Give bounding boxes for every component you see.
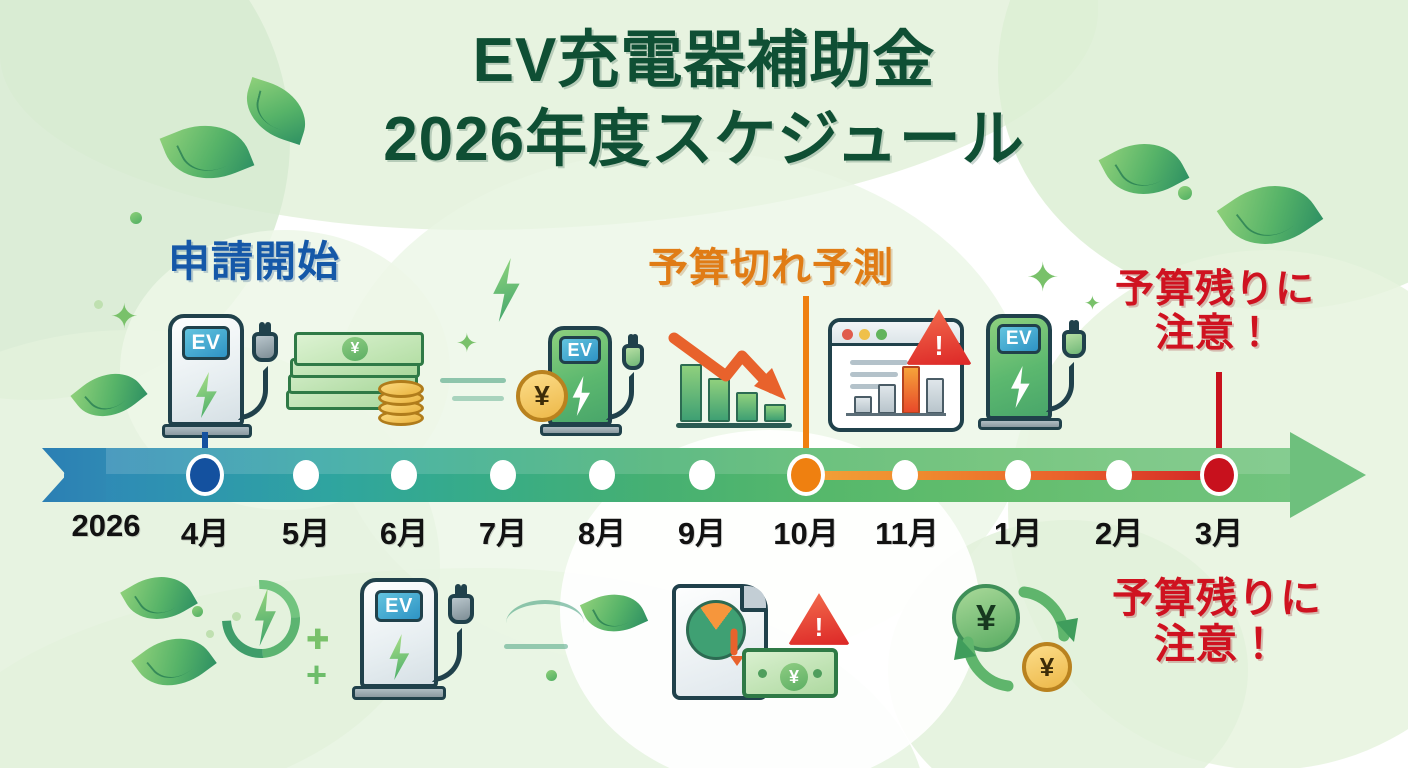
exchange-arrows-icon (952, 580, 1082, 700)
decorative-dot (94, 300, 103, 309)
milestone-label-caution-top: 予算残りに 注意！ (1100, 268, 1330, 355)
swoosh-line (506, 600, 584, 646)
warning-exclamation: ! (788, 612, 850, 643)
cash-stack-yen-icon: ¥ (286, 328, 430, 438)
timeline-tick-2: 2月 (1095, 508, 1143, 553)
decorative-dot (192, 606, 203, 617)
timeline-marker-budget-out[interactable] (787, 454, 825, 496)
timeline-left-notch (42, 448, 106, 502)
leaf-icon (70, 358, 147, 432)
timeline-tick-1: 1月 (994, 508, 1042, 553)
charger-screen-label: EV (997, 324, 1041, 354)
timeline-marker-8[interactable] (589, 460, 615, 490)
yen-exchange-cycle-icon: ¥ ¥ (952, 580, 1082, 700)
timeline-tick-11: 11月 (875, 508, 939, 553)
plus-icon: + (306, 654, 327, 696)
lightning-bolt-icon (486, 258, 526, 322)
ev-charging-station-green-icon: EV (986, 314, 1090, 438)
leaf-icon (580, 582, 648, 643)
warning-triangle-icon: ! (906, 308, 972, 366)
leaf-icon (131, 621, 217, 703)
page-title: EV充電器補助金 2026年度スケジュール (0, 22, 1408, 180)
banknote-yen-icon: ¥ (742, 648, 838, 698)
timeline-marker-caution[interactable] (1200, 454, 1238, 496)
timeline-band (42, 448, 1366, 502)
timeline-tick-6: 6月 (380, 508, 428, 553)
speed-line (452, 396, 504, 401)
timeline-tick-10: 10月 (773, 508, 838, 553)
timeline-arrowhead (1290, 432, 1366, 518)
milestone-label-start: 申請開始 (168, 238, 340, 285)
browser-dot-green (876, 329, 887, 340)
yen-symbol: ¥ (780, 663, 808, 691)
timeline-tick-8: 8月 (578, 508, 626, 553)
timeline-marker-start[interactable] (186, 454, 224, 496)
milestone-label-caution-bottom: 予算残りに 注意！ (1092, 576, 1342, 668)
power-plug-icon (1062, 330, 1086, 358)
timeline-tick-4: 4月 (181, 508, 229, 553)
timeline-marker-7[interactable] (490, 460, 516, 490)
timeline-tick-7: 7月 (479, 508, 527, 553)
yen-symbol: ¥ (342, 337, 368, 361)
decorative-dot (130, 212, 142, 224)
decorative-dot (546, 670, 557, 681)
power-plug-icon (252, 332, 278, 362)
timeline-marker-6[interactable] (391, 460, 417, 490)
sparkle-icon: ✦ (456, 330, 478, 356)
ev-charging-station-white-icon: EV (168, 314, 278, 446)
caution-top-line-2: 注意！ (1100, 312, 1330, 356)
browser-dot-yellow (859, 329, 870, 340)
timeline-tick-5: 5月 (282, 508, 330, 553)
warning-exclamation: ! (906, 330, 972, 362)
decorative-dot (1178, 186, 1192, 200)
power-plug-icon (448, 594, 474, 624)
speed-line (440, 378, 506, 383)
yen-coin-icon: ¥ (516, 370, 568, 422)
speed-line (504, 644, 568, 649)
sparkle-icon: ✦ (1084, 294, 1101, 314)
browser-dot-red (842, 329, 853, 340)
timeline-tick-3: 3月 (1195, 508, 1243, 553)
power-plug-icon (622, 344, 644, 370)
timeline-marker-2[interactable] (1106, 460, 1132, 490)
timeline-tick-9: 9月 (678, 508, 726, 553)
milestone-label-budget-out: 予算切れ予測 (648, 246, 894, 291)
caution-bottom-line-1: 予算残りに (1092, 576, 1342, 622)
sparkle-icon: ✦ (110, 300, 139, 334)
timeline-marker-1[interactable] (1005, 460, 1031, 490)
timeline-tick-year: 2026 (72, 508, 141, 544)
charger-screen-label: EV (182, 326, 230, 360)
caution-bottom-line-2: 注意！ (1092, 622, 1342, 668)
timeline-marker-11[interactable] (892, 460, 918, 490)
timeline-marker-5[interactable] (293, 460, 319, 490)
decorative-dot (206, 630, 214, 638)
caution-top-line-1: 予算残りに (1100, 268, 1330, 312)
down-trend-arrow-icon (668, 328, 796, 414)
title-line-2: 2026年度スケジュール (0, 100, 1408, 180)
leaf-icon (120, 562, 198, 635)
warning-triangle-icon: ! (788, 592, 850, 646)
charger-screen-label: EV (559, 336, 601, 364)
timeline-marker-9[interactable] (689, 460, 715, 490)
infographic-canvas: ✦ ✦ ✦ ✦ ✚ EV充電器補助金 2026年度スケジュール 申請開始 予算切… (0, 0, 1408, 768)
sparkle-icon: ✚ (306, 626, 329, 654)
connector-line-budget-out (803, 296, 809, 472)
charger-screen-label: EV (375, 590, 423, 622)
ev-charging-station-white-icon: EV (360, 578, 476, 706)
sparkle-icon: ✦ (1026, 258, 1060, 298)
title-line-1: EV充電器補助金 (0, 22, 1408, 100)
